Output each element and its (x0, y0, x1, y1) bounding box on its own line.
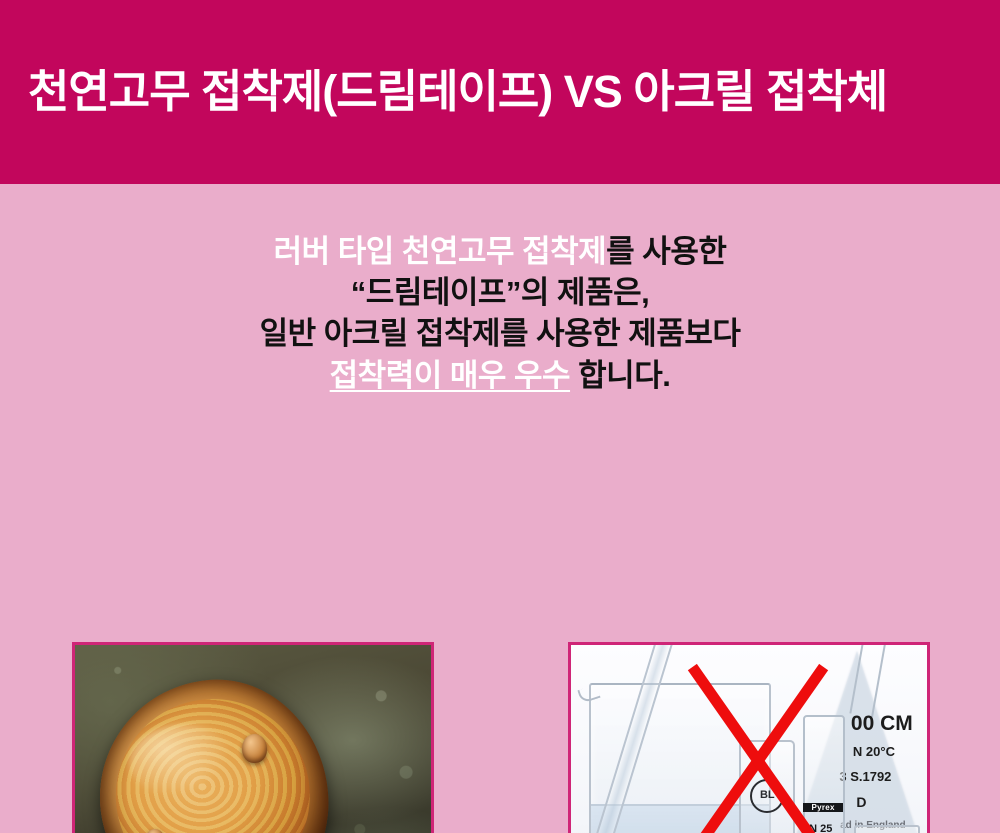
flask-label-temp: N 20°C (853, 744, 895, 759)
infographic-page: 천연고무 접착제(드림테이프) VS 아크릴 접착체 러버 타입 천연고무 접착… (0, 0, 1000, 833)
graduated-vial-shape: Pyrex IN 25 20°c B (803, 715, 845, 833)
card-acrylic-adhesive[interactable]: 600m 200 BL 00 CM N 20°C 3 S.1792 D ad i… (568, 642, 930, 833)
reagent-bottle-shape: BL (739, 740, 795, 833)
lab-glassware-photo: 600m 200 BL 00 CM N 20°C 3 S.1792 D ad i… (571, 645, 927, 833)
sap-gloss-highlight (126, 721, 237, 800)
tree-sap-photo (75, 645, 431, 833)
copy-line-3: 일반 아크릴 접착제를 사용한 제품보다 (0, 313, 1000, 354)
description-copy: 러버 타입 천연고무 접착제를 사용한 “드림테이프”의 제품은, 일반 아크릴… (0, 231, 1000, 396)
copy-line-1-rest: 를 사용한 (606, 234, 726, 269)
sap-drop-icon (242, 734, 267, 763)
vial-label-volume: IN 25 (806, 823, 832, 833)
header-banner: 천연고무 접착제(드림테이프) VS 아크릴 접착체 (0, 0, 1000, 184)
copy-line-4: 접착력이 매우 우수 합니다. (0, 355, 1000, 396)
glass-tumbler-shape (854, 825, 920, 833)
copy-line-1: 러버 타입 천연고무 접착제를 사용한 (0, 231, 1000, 272)
copy-line-4-highlight: 접착력이 매우 우수 (330, 358, 570, 393)
flask-label-capacity: 00 CM (851, 712, 913, 736)
vial-brand-label: Pyrex (803, 803, 843, 812)
body-area: 러버 타입 천연고무 접착제를 사용한 “드림테이프”의 제품은, 일반 아크릴… (0, 184, 1000, 833)
copy-line-4-rest: 합니다. (570, 358, 670, 393)
bottle-brand-logo: BL (750, 779, 784, 813)
copy-line-2: “드림테이프”의 제품은, (0, 272, 1000, 313)
page-title: 천연고무 접착제(드림테이프) VS 아크릴 접착체 (0, 67, 887, 117)
copy-line-1-highlight: 러버 타입 천연고무 접착제 (274, 234, 607, 269)
flask-label-standard: 3 S.1792 (839, 769, 891, 784)
flask-label-mark: D (856, 794, 866, 810)
card-natural-adhesive[interactable]: 천연접착제(러버타입) (드림테이프) (72, 642, 434, 833)
